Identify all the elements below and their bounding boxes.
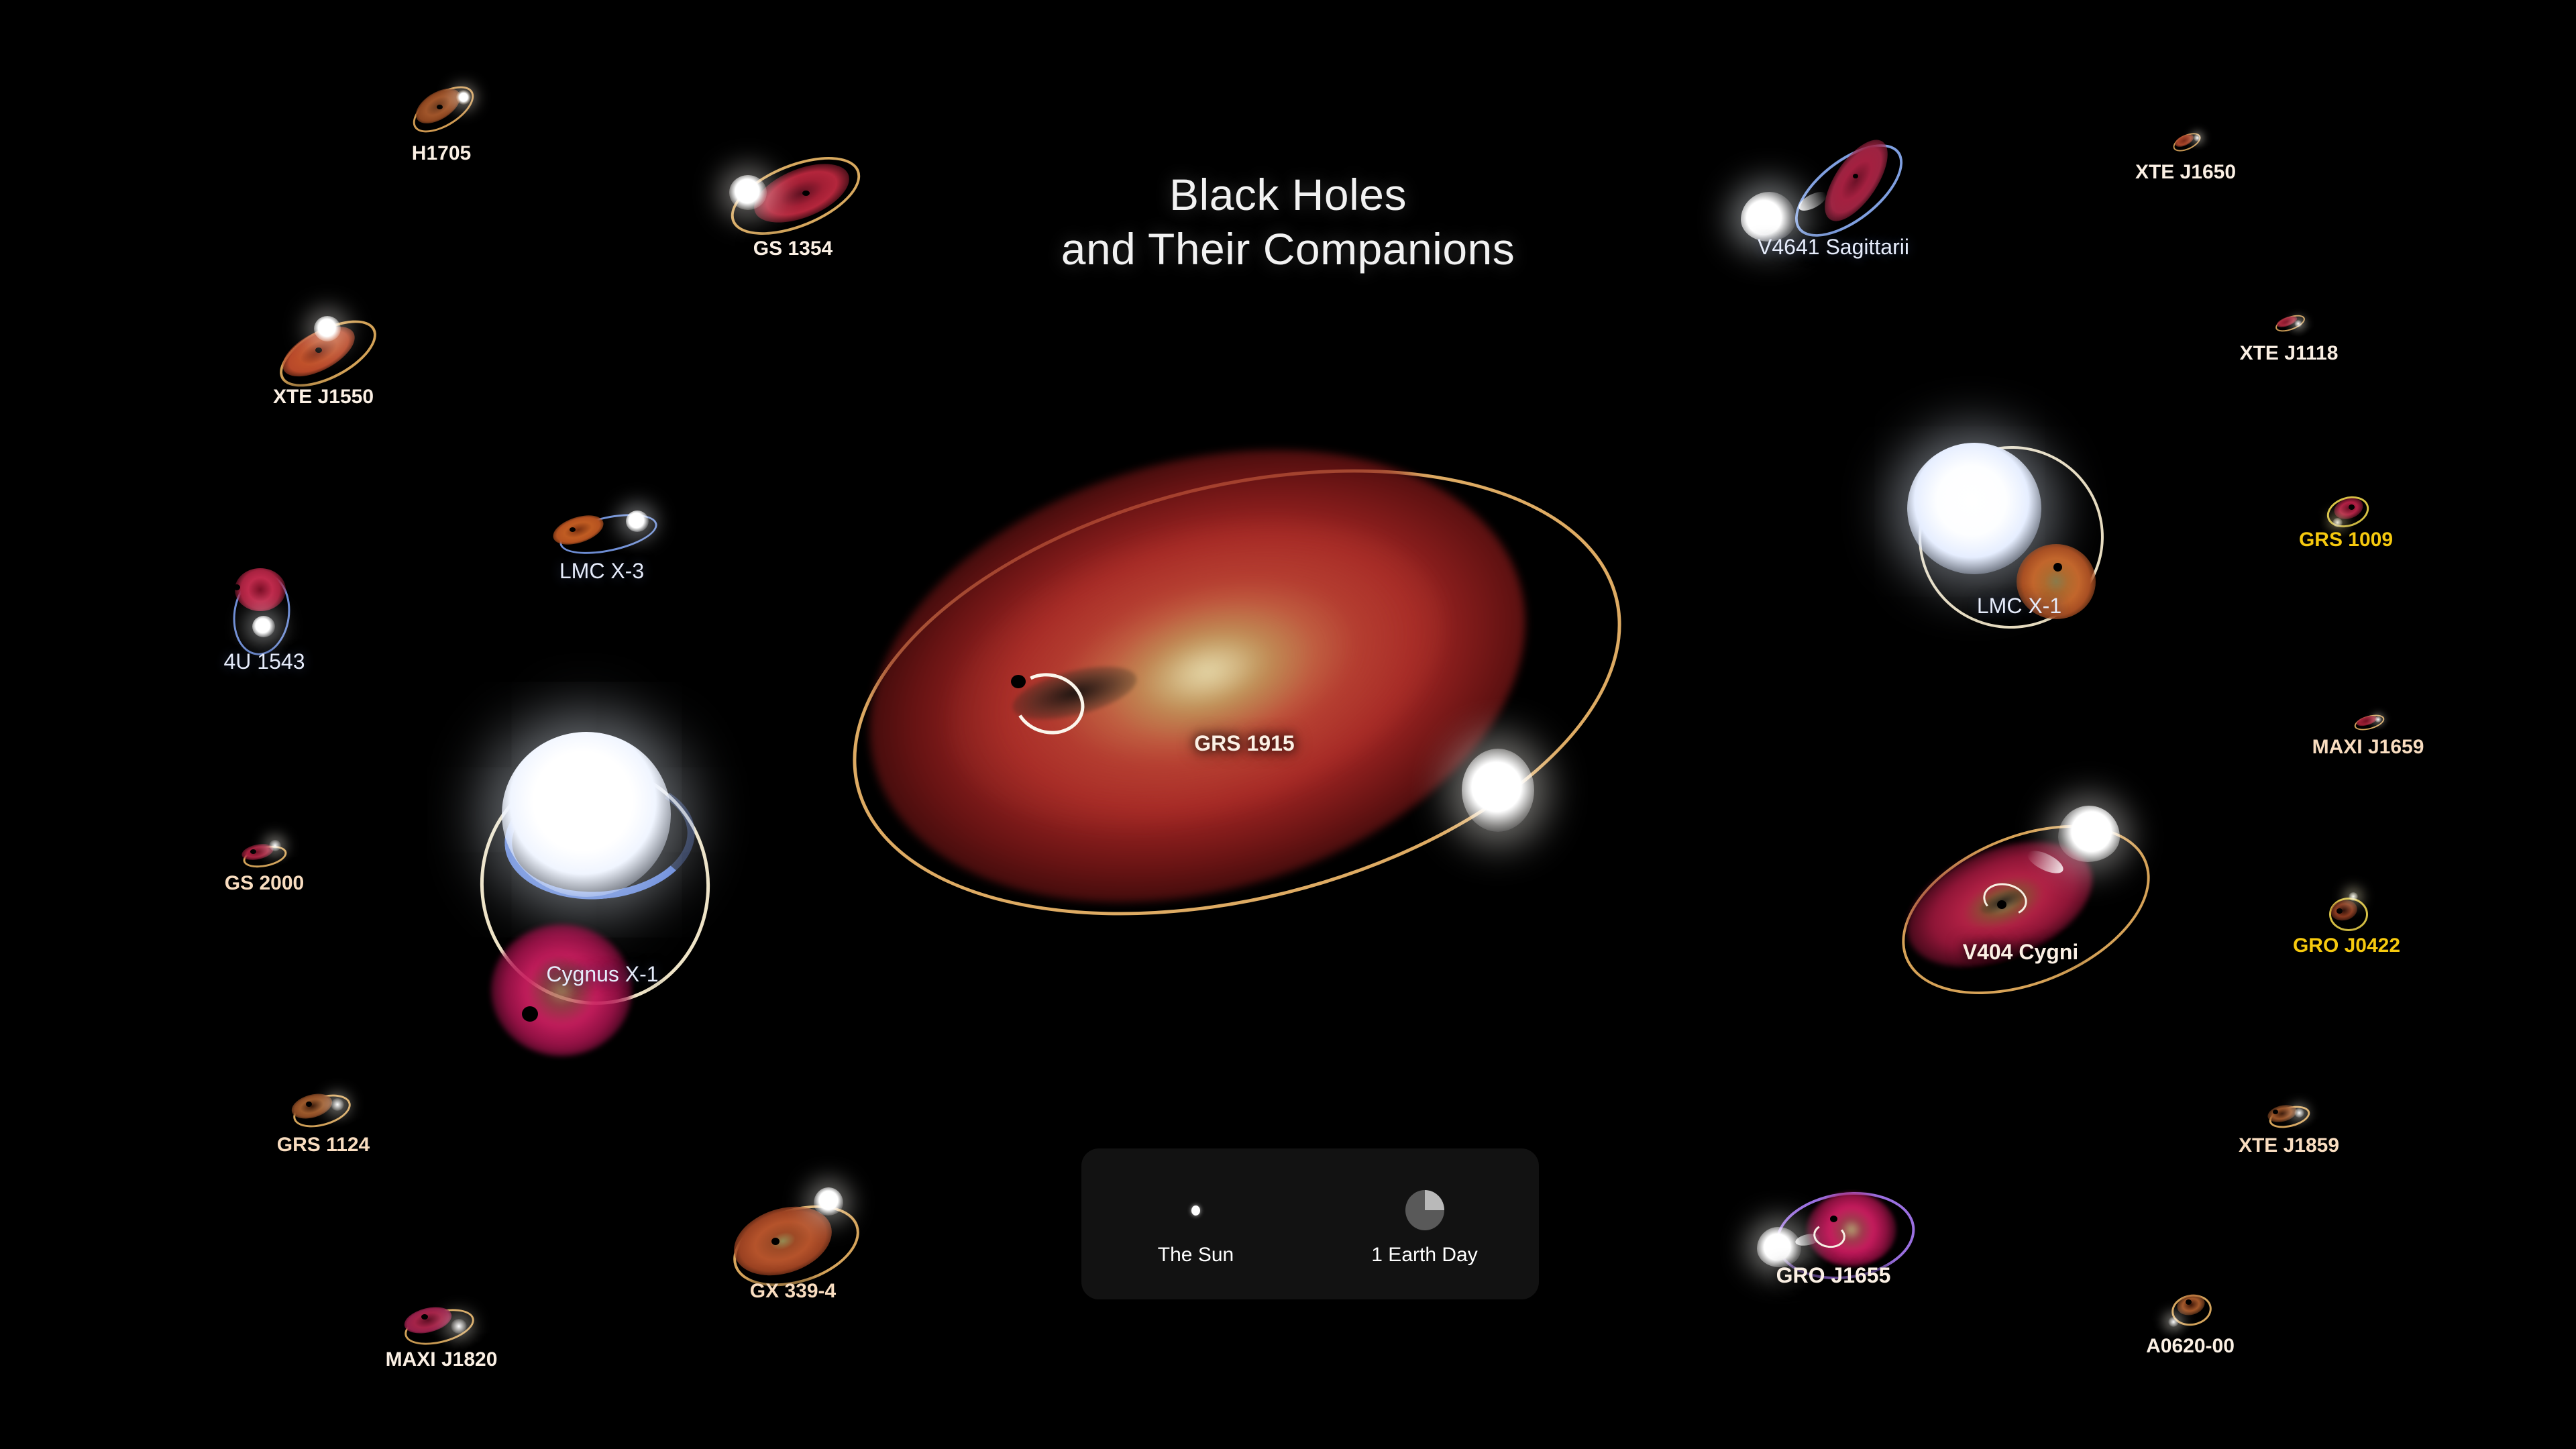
- system-grs1915[interactable]: GRS 1915: [808, 396, 1680, 1000]
- starfield-canvas: Black Holes and Their Companions H1705 G…: [0, 0, 2576, 1449]
- system-maxij1820[interactable]: MAXI J1820: [347, 1254, 535, 1389]
- system-xtej1118[interactable]: XTE J1118: [2215, 268, 2363, 376]
- system-lmcx3[interactable]: LMC X-3: [508, 453, 696, 607]
- system-groj1655[interactable]: GRO J1655: [1719, 1137, 1947, 1332]
- system-lmcx1[interactable]: LMC X-1: [1872, 406, 2167, 674]
- system-a0620[interactable]: A0620-00: [2096, 1241, 2284, 1375]
- system-xtej1859[interactable]: XTE J1859: [2202, 1050, 2376, 1177]
- legend-label-one-earth-day: 1 Earth Day: [1371, 1244, 1477, 1267]
- system-grs1009[interactable]: GRS 1009: [2259, 443, 2433, 577]
- system-v4641[interactable]: V4641 Sagittarii: [1713, 101, 1954, 288]
- system-gs2000[interactable]: GS 2000: [180, 792, 348, 912]
- system-grs1124[interactable]: GRS 1124: [236, 1040, 411, 1174]
- system-4u1543[interactable]: 4U 1543: [170, 523, 358, 691]
- page-title-line-2: and Their Companions: [1033, 222, 1543, 276]
- scale-legend-panel: The Sun 1 Earth Day: [1081, 1148, 1539, 1299]
- legend-label-the-sun: The Sun: [1158, 1244, 1234, 1267]
- sun-dot-icon: [1169, 1183, 1223, 1237]
- system-groj0422[interactable]: GRO J0422: [2259, 842, 2434, 983]
- legend-item-one-earth-day: 1 Earth Day: [1310, 1148, 1539, 1299]
- system-gs1354[interactable]: GS 1354: [692, 106, 894, 280]
- system-cygx1[interactable]: Cygnus X-1: [428, 691, 777, 1134]
- system-maxij1659[interactable]: MAXI J1659: [2281, 667, 2455, 775]
- system-h1705[interactable]: H1705: [368, 40, 515, 174]
- day-pie-icon: [1398, 1183, 1452, 1237]
- legend-item-the-sun: The Sun: [1081, 1148, 1310, 1299]
- system-xtej1650[interactable]: XTE J1650: [2112, 87, 2259, 195]
- system-xtej1550[interactable]: XTE J1550: [223, 266, 424, 434]
- system-v404[interactable]: V404 Cygni: [1873, 768, 2168, 1036]
- page-title-line-1: Black Holes: [1169, 170, 1407, 219]
- page-title: Black Holes and Their Companions: [1033, 168, 1543, 276]
- system-gx339[interactable]: GX 339-4: [686, 1147, 900, 1335]
